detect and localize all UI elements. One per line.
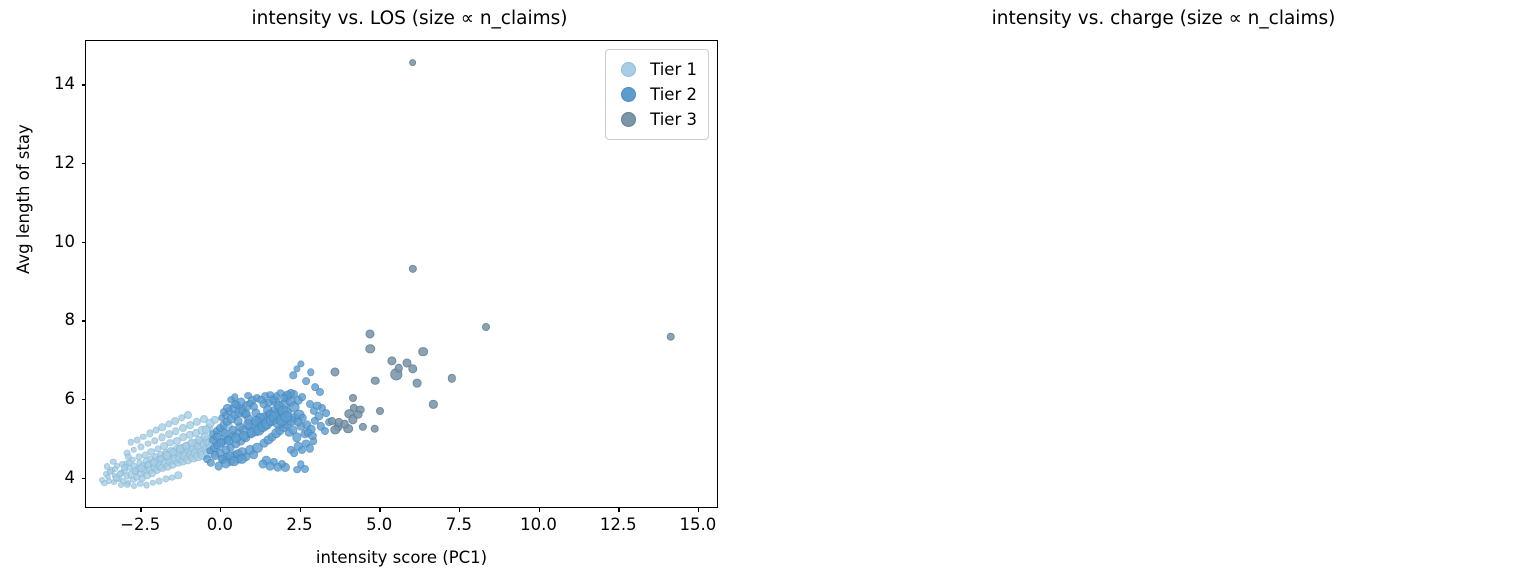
scatter-point: [376, 407, 384, 415]
y-tick-label: 4: [65, 468, 76, 488]
scatter-point: [370, 424, 379, 433]
y-tick-label: 10: [54, 232, 75, 252]
scatter-point: [244, 392, 252, 400]
legend-left[interactable]: Tier 1Tier 2Tier 3: [605, 49, 709, 140]
scatter-point: [280, 411, 292, 423]
scatter-point: [289, 372, 296, 379]
scatter-point: [234, 416, 243, 425]
legend-item-tier-1[interactable]: Tier 1: [615, 57, 697, 82]
scatter-point: [144, 440, 151, 447]
x-axis-label-left: intensity score (PC1): [85, 548, 718, 568]
y-tick-mark: [82, 84, 87, 85]
legend-item-tier-3[interactable]: Tier 3: [615, 107, 697, 132]
x-tick-label: 0.0: [207, 515, 233, 535]
scatter-point: [328, 417, 336, 425]
y-tick-label: 14: [54, 74, 75, 94]
scatter-point: [131, 447, 137, 453]
scatter-point: [231, 400, 239, 408]
scatter-point: [371, 376, 380, 385]
y-tick-label: 12: [54, 153, 75, 173]
legend-swatch-icon: [621, 112, 636, 127]
x-tick-mark: [459, 507, 460, 512]
scatter-point: [349, 394, 357, 402]
scatter-point: [280, 394, 288, 402]
scatter-point: [316, 388, 324, 396]
panel-title-right: intensity vs. charge (size ∝ n_claims): [757, 6, 1515, 32]
scatter-point: [331, 368, 340, 377]
scatter-point: [408, 265, 416, 273]
scatter-point: [258, 460, 267, 469]
legend-label: Tier 3: [650, 110, 697, 130]
x-tick-mark: [539, 507, 540, 512]
scatter-point: [175, 471, 182, 478]
legend-swatch-icon: [621, 62, 636, 77]
y-tick-mark: [82, 163, 87, 164]
x-tick-label: 10.0: [520, 515, 557, 535]
x-tick-mark: [698, 507, 699, 512]
scatter-point: [124, 481, 130, 487]
scatter-point: [131, 483, 137, 489]
panel-title-left: intensity vs. LOS (size ∝ n_claims): [0, 6, 757, 32]
scatter-point: [354, 410, 363, 419]
scatter-point: [395, 364, 404, 373]
x-tick-label: 2.5: [286, 515, 312, 535]
scatter-point: [429, 400, 437, 408]
scatter-point: [306, 444, 314, 452]
x-tick-label: 15.0: [680, 515, 717, 535]
panel-intensity-vs-charge: intensity vs. charge (size ∝ n_claims) −…: [757, 0, 1515, 586]
legend-label: Tier 2: [650, 85, 697, 105]
x-tick-mark: [618, 507, 619, 512]
scatter-point: [293, 365, 300, 372]
scatter-point: [118, 482, 124, 488]
scatter-point: [220, 408, 228, 416]
scatter-point: [366, 329, 375, 338]
scatter-point: [321, 427, 329, 435]
scatter-point: [340, 420, 349, 429]
scatter-point: [482, 323, 490, 331]
x-tick-mark: [379, 507, 380, 512]
scatter-point: [236, 454, 246, 464]
panel-intensity-vs-los: intensity vs. LOS (size ∝ n_claims) −2.5…: [0, 0, 757, 586]
legend-swatch-icon: [621, 87, 636, 102]
x-tick-mark: [300, 507, 301, 512]
y-tick-mark: [82, 320, 87, 321]
scatter-point: [408, 364, 417, 373]
scatter-point: [366, 344, 375, 353]
x-tick-mark: [140, 507, 141, 512]
scatter-point: [301, 465, 309, 473]
legend-label: Tier 1: [650, 60, 697, 80]
scatter-point: [412, 379, 421, 388]
y-tick-label: 6: [65, 389, 76, 409]
scatter-point: [302, 377, 310, 385]
y-tick-label: 8: [65, 310, 76, 330]
y-axis-label-left: Avg length of stay: [14, 124, 34, 274]
axes-left: −2.50.02.55.07.510.012.515.0468101214 Ti…: [85, 40, 718, 508]
figure-canvas: intensity vs. LOS (size ∝ n_claims) −2.5…: [0, 0, 1515, 586]
x-tick-mark: [220, 507, 221, 512]
y-tick-mark: [82, 399, 87, 400]
scatter-point: [137, 443, 144, 450]
scatter-point: [125, 459, 132, 466]
scatter-point: [307, 368, 314, 375]
scatter-point: [242, 410, 251, 419]
scatter-point: [322, 409, 330, 417]
scatter-point: [418, 347, 428, 357]
legend-item-tier-2[interactable]: Tier 2: [615, 82, 697, 107]
scatter-point: [409, 59, 417, 67]
scatter-point: [313, 402, 322, 411]
y-tick-mark: [82, 242, 87, 243]
scatter-point: [184, 411, 192, 419]
scatter-point: [667, 332, 676, 341]
scatter-point: [448, 374, 456, 382]
x-tick-label: −2.5: [120, 515, 160, 535]
scatter-point: [298, 393, 306, 401]
x-tick-label: 5.0: [366, 515, 392, 535]
scatter-point: [358, 423, 366, 431]
x-tick-label: 7.5: [446, 515, 472, 535]
x-tick-label: 12.5: [600, 515, 637, 535]
y-tick-mark: [82, 478, 87, 479]
